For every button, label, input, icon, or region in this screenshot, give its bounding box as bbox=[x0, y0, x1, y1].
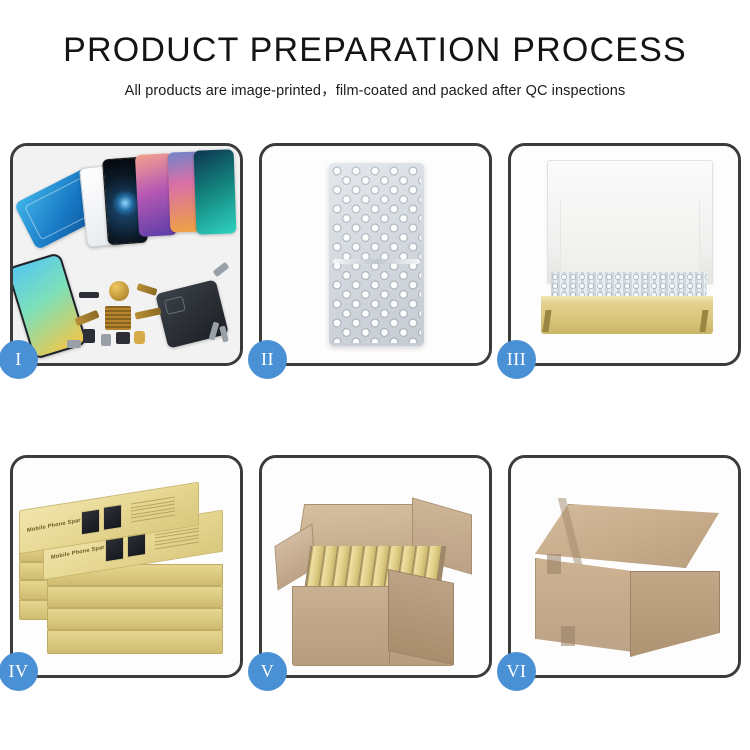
process-step-panel-4: Mobile Phone Spare Parts Mobile Phone Sp… bbox=[10, 455, 243, 678]
step-badge-2: II bbox=[248, 340, 287, 379]
speaker-part-icon bbox=[109, 281, 129, 301]
retail-box bbox=[47, 608, 223, 628]
tool-icon bbox=[213, 262, 230, 277]
retail-box bbox=[47, 630, 223, 652]
phone-parts-collage-illustration bbox=[13, 146, 240, 363]
process-step-panel-2: II bbox=[259, 143, 492, 366]
connector-chip-icon bbox=[105, 306, 131, 330]
retail-box-stack-illustration: Mobile Phone Spare Parts Mobile Phone Sp… bbox=[19, 480, 235, 660]
step-badge-6: VI bbox=[497, 652, 536, 691]
sealed-carton-side-face bbox=[630, 571, 720, 657]
step-badge-1: I bbox=[0, 340, 38, 379]
teal-phone-screen-icon bbox=[194, 149, 237, 234]
spare-part-icon bbox=[116, 332, 130, 344]
carton-tape-mark bbox=[561, 626, 575, 646]
process-step-panel-6: VI bbox=[508, 455, 741, 678]
step-4-image: Mobile Phone Spare Parts Mobile Phone Sp… bbox=[13, 458, 240, 675]
inner-box-white-lid bbox=[547, 160, 713, 284]
flex-cable-icon bbox=[135, 307, 162, 319]
step-3-image bbox=[511, 146, 738, 363]
carton-tape-mark bbox=[547, 554, 561, 574]
step-2-image bbox=[262, 146, 489, 363]
spare-part-icon bbox=[134, 331, 145, 344]
flex-cable-icon bbox=[136, 283, 157, 296]
step-badge-4: IV bbox=[0, 652, 38, 691]
spare-part-icon bbox=[83, 329, 95, 343]
step-6-image bbox=[511, 458, 738, 675]
process-step-panel-1: I bbox=[10, 143, 243, 366]
phone-back-housing-icon bbox=[155, 279, 229, 348]
process-step-panel-5: V bbox=[259, 455, 492, 678]
bubble-wrap-seam bbox=[333, 259, 420, 264]
step-1-image bbox=[13, 146, 240, 363]
box-product-window bbox=[81, 508, 100, 535]
spare-part-icon bbox=[101, 334, 111, 346]
inner-box-yellow-base bbox=[541, 296, 713, 334]
carton-side-face bbox=[388, 569, 454, 665]
process-step-panel-3: III bbox=[508, 143, 741, 366]
box-product-window bbox=[103, 504, 122, 531]
step-badge-3: III bbox=[497, 340, 536, 379]
bubble-wrap-illustration bbox=[329, 163, 424, 346]
step-5-image bbox=[262, 458, 489, 675]
process-step-grid: I II III bbox=[10, 143, 742, 723]
spare-part-icon bbox=[67, 340, 81, 348]
spare-part-icon bbox=[79, 292, 99, 298]
bubble-grid-icon bbox=[332, 166, 421, 343]
retail-box bbox=[47, 586, 223, 606]
bubble-wrapped-contents bbox=[551, 272, 707, 298]
page-title: PRODUCT PREPARATION PROCESS bbox=[0, 0, 750, 69]
step-badge-5: V bbox=[248, 652, 287, 691]
page-header: PRODUCT PREPARATION PROCESS All products… bbox=[0, 0, 750, 100]
page-subtitle: All products are image-printed，film-coat… bbox=[0, 69, 750, 100]
